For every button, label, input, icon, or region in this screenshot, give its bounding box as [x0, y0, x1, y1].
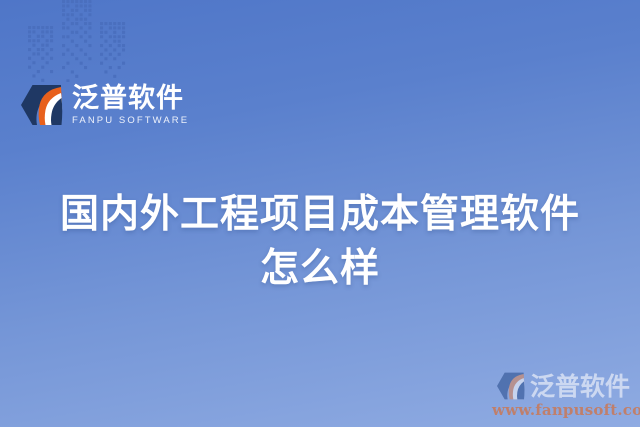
page-title-line-1: 国内外工程项目成本管理软件 [0, 188, 640, 242]
watermark-url: www.fanpusoft.com [492, 401, 634, 419]
brand-logo-text: 泛普软件 FANPU SOFTWARE [72, 85, 189, 126]
brand-logo: 泛普软件 FANPU SOFTWARE [20, 84, 189, 126]
halftone-city-skyline-icon [28, 0, 132, 82]
promo-banner: 泛普软件 FANPU SOFTWARE 国内外工程项目成本管理软件 怎么样 泛普… [0, 0, 640, 427]
page-title-line-2: 怎么样 [0, 242, 640, 296]
fanpu-logo-mark-watermark-icon [496, 372, 526, 400]
watermark: 泛普软件 www.fanpusoft.com [492, 372, 634, 419]
brand-name-en: FANPU SOFTWARE [72, 116, 189, 126]
watermark-brand-row: 泛普软件 [492, 372, 634, 400]
fanpu-logo-mark-icon [20, 84, 64, 126]
page-title: 国内外工程项目成本管理软件 怎么样 [0, 188, 640, 296]
watermark-brand-name: 泛普软件 [530, 374, 630, 399]
brand-name-cn: 泛普软件 [72, 85, 189, 112]
